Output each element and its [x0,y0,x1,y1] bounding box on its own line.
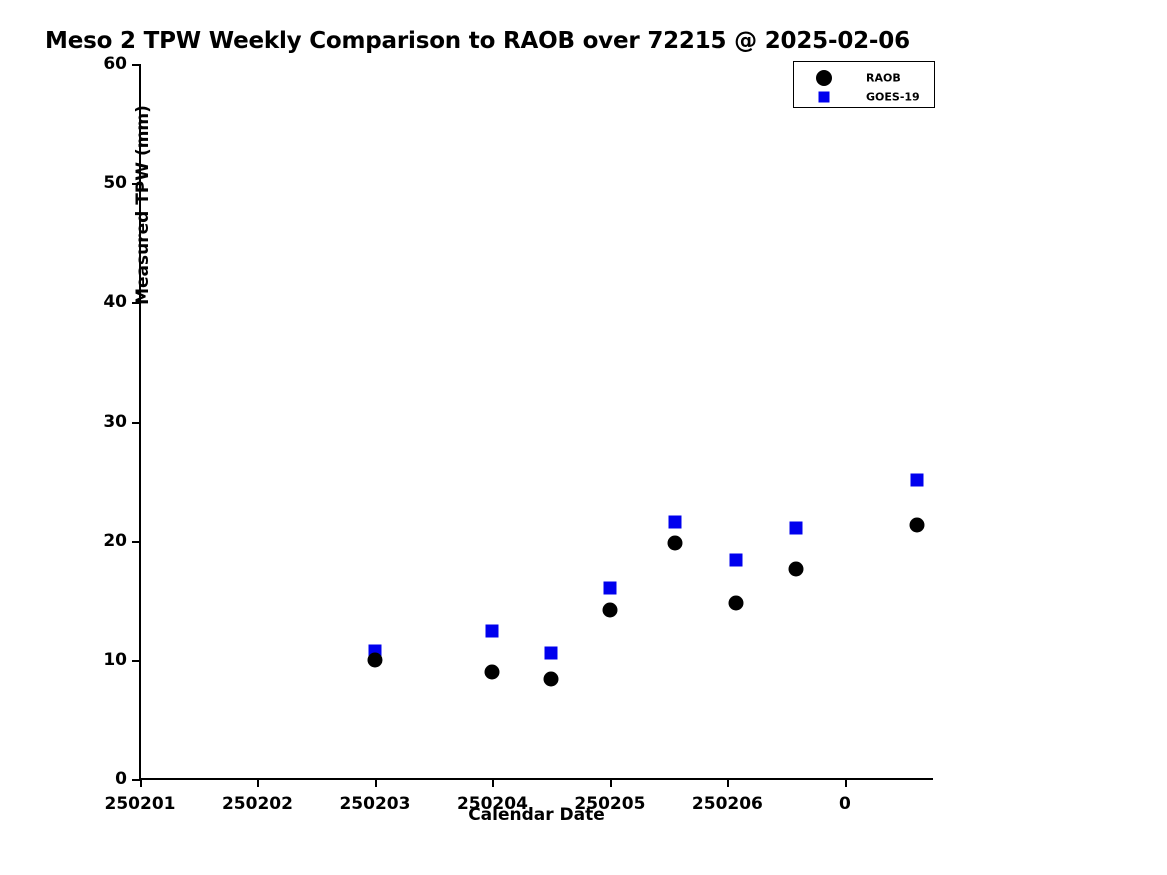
data-point-raob [602,602,617,617]
data-point-goes-19 [789,521,802,534]
legend-circle-icon [816,70,832,86]
x-tick-mark [492,779,494,787]
y-tick-label: 50 [103,173,127,193]
y-tick-label: 40 [103,292,127,312]
data-point-goes-19 [729,553,742,566]
data-point-goes-19 [603,582,616,595]
data-point-goes-19 [668,515,681,528]
data-point-raob [367,652,382,667]
chart-figure: Meso 2 TPW Weekly Comparison to RAOB ove… [0,0,1167,875]
y-tick-label: 10 [103,650,127,670]
y-tick-mark [132,422,140,424]
legend-label: GOES-19 [866,91,920,104]
y-tick-label: 30 [103,412,127,432]
y-tick-label: 60 [103,54,127,74]
data-point-raob [667,536,682,551]
data-point-goes-19 [545,646,558,659]
data-point-raob [544,671,559,686]
x-tick-mark [845,779,847,787]
legend-label: RAOB [866,72,901,85]
x-tick-mark [140,779,142,787]
x-axis-label: Calendar Date [140,805,933,825]
data-point-raob [485,664,500,679]
legend-entry: RAOB [794,68,934,88]
chart-legend: RAOBGOES-19 [793,61,935,108]
y-tick-mark [132,541,140,543]
legend-square-icon [819,92,830,103]
chart-title: Meso 2 TPW Weekly Comparison to RAOB ove… [45,28,910,54]
x-tick-mark [727,779,729,787]
legend-marker-wrap [824,92,835,103]
y-tick-mark [132,660,140,662]
legend-marker-wrap [824,70,840,86]
data-point-raob [909,518,924,533]
y-tick-mark [132,779,140,781]
data-point-raob [788,562,803,577]
data-point-goes-19 [910,473,923,486]
plot-area: 0102030405060 25020125020225020325020425… [140,64,933,779]
y-tick-label: 20 [103,531,127,551]
data-point-goes-19 [486,625,499,638]
x-tick-mark [257,779,259,787]
x-tick-mark [375,779,377,787]
legend-entry: GOES-19 [794,87,934,107]
y-tick-label: 0 [115,769,127,789]
data-point-raob [728,595,743,610]
x-tick-mark [610,779,612,787]
y-axis-label: Measured TPW (mm) [133,40,153,370]
